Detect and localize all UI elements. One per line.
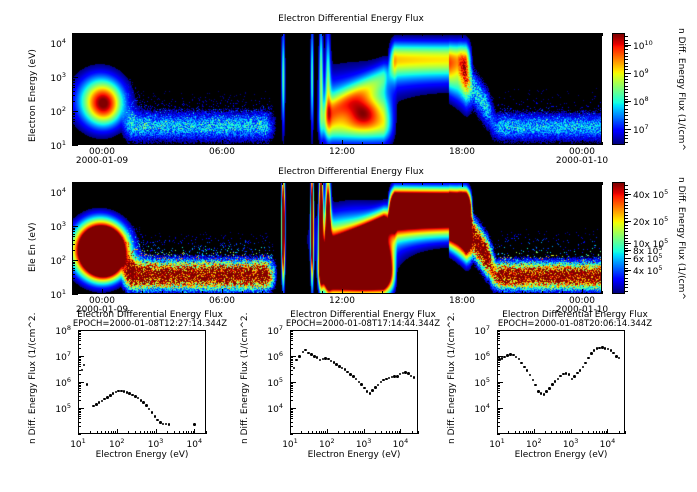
tick-mark [625,241,628,242]
tick-mark [360,431,361,434]
tick-mark [290,400,293,401]
tick-mark [78,362,81,363]
panel1-colorbar [612,33,625,145]
tick-mark [78,356,81,357]
data-point [568,373,571,376]
tick-mark [497,348,500,349]
panel1-colorbar-canvas [613,34,624,144]
spectrum-y-tick-label: 108 [55,324,71,337]
tick-mark [625,129,628,130]
panel1-ylabel: Electron Energy (eV) [28,49,38,142]
tick-mark [497,416,500,417]
tick-mark [290,330,293,331]
tick-mark [523,431,524,434]
tick-mark [375,431,376,434]
tick-mark [534,431,535,434]
tick-mark [625,89,628,90]
data-point [101,400,104,403]
tick-mark [497,411,500,412]
data-point [154,415,157,418]
tick-mark [497,364,500,365]
tick-mark [290,388,293,389]
tick-mark [78,370,81,371]
panel1-colorbar-label: n Diff. Energy Flux (1/(cm^ [676,28,686,151]
data-point [612,352,615,355]
tick-mark [625,274,628,275]
data-point [295,359,298,362]
tick-mark [78,412,81,413]
tick-mark [78,330,81,331]
tick-mark [625,101,631,102]
data-point [399,373,402,376]
data-point [529,374,532,377]
data-point [506,354,509,357]
tick-mark [308,431,309,434]
tick-mark [625,189,628,190]
tick-mark [625,194,631,195]
tick-mark [290,366,293,367]
tick-mark [602,431,603,434]
tick-mark [78,400,81,401]
data-point [193,423,196,426]
spectrum-2-ylabel: n Diff. Energy Flux (1/(cm^2. [240,313,250,444]
tick-mark [625,291,628,292]
panel1-colorbar-label-wrap: n Diff. Energy Flux (1/(cm^ [686,28,697,38]
tick-mark [290,338,293,339]
tick-mark [323,431,324,434]
panel-x-tick-label: 06:00 [208,296,236,306]
tick-mark [497,434,500,435]
panel-y-tick-label: 101 [50,288,66,301]
tick-mark [386,431,387,434]
data-point [571,378,574,381]
data-point [293,367,296,370]
tick-mark [607,431,608,434]
spectrum-y-tick-label: 104 [267,402,283,415]
tick-mark [78,359,81,360]
tick-mark [497,414,500,415]
tick-mark [625,46,628,47]
spectrum-1-ylabel-wrap: n Diff. Energy Flux (1/(cm^2. [28,444,159,454]
tick-mark [625,69,628,70]
data-point [579,369,582,372]
tick-mark [625,86,628,87]
data-point [573,375,576,378]
tick-mark [140,431,141,434]
tick-mark [188,431,189,434]
tick-mark [625,270,631,271]
tick-mark [78,333,81,334]
tick-mark [625,43,628,44]
tick-mark [625,208,628,209]
spectrum-x-tick-label: 104 [595,437,619,450]
tick-mark [625,248,628,249]
tick-mark [497,418,500,419]
tick-mark [497,366,500,367]
tick-mark [599,431,600,434]
data-point [168,423,171,426]
tick-mark [179,431,180,434]
panel-x-tick-label: 00:00 [568,147,596,157]
spectrum-x-tick-label: 104 [388,437,412,450]
tick-mark [78,331,81,332]
tick-mark [78,364,81,365]
tick-mark [364,431,365,434]
data-point [576,372,579,375]
tick-mark [625,119,628,120]
panel2-colorbar-label: n Diff. Energy Flux (1/(cm^ [676,177,686,300]
panel-x-tick-label: 18:00 [448,147,476,157]
tick-mark [353,431,354,434]
tick-mark [389,431,390,434]
tick-mark [78,336,81,337]
data-point [319,359,322,362]
tick-mark [497,388,500,389]
spectrum-y-tick-label: 107 [55,350,71,363]
spectrum-1-plot-area[interactable] [78,330,206,434]
tick-mark [78,386,81,387]
data-point [548,387,551,390]
tick-mark [625,92,628,93]
tick-mark [625,195,628,196]
tick-mark [78,396,81,397]
tick-mark [290,386,293,387]
panel-x-tick-label: 18:00 [448,296,476,306]
tick-mark [625,56,628,57]
panel1-plot-area[interactable] [72,33,602,145]
spectrum-y-tick-label: 107 [474,324,490,337]
tick-mark [78,338,81,339]
tick-mark [625,45,631,46]
tick-mark [562,431,563,434]
tick-mark [625,231,628,232]
tick-mark [497,334,500,335]
spectrum-y-tick-label: 105 [474,376,490,389]
data-point [360,383,363,386]
tick-mark [206,431,207,434]
tick-mark [625,228,628,229]
tick-mark [582,431,583,434]
tick-mark [625,287,628,288]
tick-mark [625,82,628,83]
tick-mark [602,291,603,294]
panel-y-tick-label: 104 [50,186,66,199]
panel-y-tick-label: 104 [50,37,66,50]
tick-mark [78,334,81,335]
panel-y-tick-label: 102 [50,105,66,118]
data-point [593,349,596,352]
tick-mark [290,340,293,341]
data-point [380,381,383,384]
tick-mark [290,344,293,345]
tick-mark [290,422,293,423]
tick-mark [625,243,631,244]
tick-mark [625,102,628,103]
tick-mark [78,340,81,341]
tick-mark [290,383,293,384]
data-point [145,404,148,407]
tick-mark [497,331,500,332]
data-point [545,390,548,393]
data-point [618,357,621,360]
spectrum-y-tick-label: 106 [474,350,490,363]
tick-mark [625,66,628,67]
data-point [298,355,301,358]
tick-mark [497,390,500,391]
tick-mark [625,96,628,97]
tick-mark [526,431,527,434]
tick-mark [625,278,628,279]
colorbar-tick-label: 1010 [633,39,653,52]
tick-mark [625,109,628,110]
tick-mark [625,76,628,77]
tick-mark [319,431,320,434]
tick-mark [290,414,293,415]
tick-mark [625,40,628,41]
tick-mark [497,382,500,383]
colorbar-tick-label: 10x 105 [633,237,668,250]
tick-mark [183,431,184,434]
tick-mark [596,431,597,434]
panel-x-tick-label: 12:00 [328,147,356,157]
tick-mark [497,396,500,397]
tick-mark [147,431,148,434]
tick-mark [105,431,106,434]
tick-mark [625,205,628,206]
tick-mark [290,362,293,363]
tick-mark [97,431,98,434]
tick-mark [355,431,356,434]
tick-mark [625,63,628,64]
tick-mark [78,390,81,391]
tick-mark [312,431,313,434]
tick-mark [625,122,628,123]
tick-mark [344,431,345,434]
spectrum-y-tick-label: 105 [267,376,283,389]
data-point [363,387,366,390]
tick-mark [528,431,529,434]
data-point [584,362,587,365]
tick-mark [497,409,500,410]
tick-mark [101,431,102,434]
panel2-colorbar [612,182,625,294]
tick-mark [625,185,628,186]
spectrum-y-tick-label: 105 [55,402,71,415]
tick-mark [290,392,293,393]
panel-x-tick-label: 06:00 [208,147,236,157]
data-point [377,384,380,387]
colorbar-tick-label: 8x 105 [633,244,663,257]
tick-mark [530,431,531,434]
tick-mark [497,426,500,427]
tick-mark [619,431,620,434]
colorbar-tick-label: 109 [633,67,649,80]
panel2-plot-area[interactable] [72,182,602,294]
data-point [369,392,372,395]
data-point [302,351,305,354]
tick-mark [349,431,350,434]
tick-mark [625,105,628,106]
tick-mark [571,431,572,434]
tick-mark [78,357,81,358]
tick-mark [358,431,359,434]
tick-mark [497,386,500,387]
panel-y-tick-label: 103 [50,220,66,233]
spectrum-3-plot-area[interactable] [497,330,625,434]
data-point [396,375,399,378]
panel2-colorbar-label-wrap: n Diff. Energy Flux (1/(cm^ [686,177,697,187]
tick-mark [78,414,81,415]
tick-mark [78,411,81,412]
tick-mark [556,431,557,434]
spectrum-3-ylabel: n Diff. Energy Flux (1/(cm^2. [447,313,457,444]
tick-mark [625,235,628,236]
panel-y-tick-label: 102 [50,254,66,267]
tick-mark [78,409,81,410]
tick-mark [78,366,81,367]
panel2-ylabel: Ele En (eV) [28,222,38,272]
tick-mark [497,338,500,339]
tick-mark [194,431,195,434]
tick-mark [625,73,631,74]
tick-mark [602,33,603,36]
tick-mark [72,294,78,295]
tick-mark [625,222,628,223]
tick-mark [290,360,293,361]
tick-mark [78,374,81,375]
tick-mark [156,431,157,434]
panel-x-date-right: 2000-01-10 [554,156,610,166]
data-point [83,364,86,367]
tick-mark [418,431,419,434]
tick-mark [497,359,500,360]
tick-mark [625,250,631,251]
tick-mark [515,431,516,434]
panel2-colorbar-canvas [613,183,624,293]
tick-mark [290,411,293,412]
tick-mark [625,112,628,113]
tick-mark [128,431,129,434]
tick-mark [144,431,145,434]
tick-mark [78,418,81,419]
tick-mark [78,426,81,427]
tick-mark [400,431,401,434]
tick-mark [497,370,500,371]
tick-mark [152,431,153,434]
tick-mark [78,385,81,386]
tick-mark [625,53,628,54]
tick-mark [604,431,605,434]
tick-mark [593,431,594,434]
tick-mark [602,142,603,145]
tick-mark [625,225,628,226]
data-point [551,383,554,386]
tick-mark [135,431,136,434]
data-point [518,358,521,361]
colorbar-tick-label: 6x 105 [633,252,663,265]
tick-mark [497,340,500,341]
tick-mark [625,198,628,199]
tick-mark [191,431,192,434]
tick-mark [108,431,109,434]
data-point [590,352,593,355]
tick-mark [90,431,91,434]
data-point [582,366,585,369]
tick-mark [78,434,81,435]
tick-mark [602,182,603,185]
tick-mark [519,431,520,434]
panel-y-tick-label: 103 [50,71,66,84]
tick-mark [497,336,500,337]
tick-mark [395,431,396,434]
tick-mark [290,348,293,349]
data-point [587,357,590,360]
tick-mark [625,212,628,213]
data-point [543,393,546,396]
tick-mark [625,254,628,255]
tick-mark [497,357,500,358]
data-point [413,376,416,379]
tick-mark [117,431,118,434]
tick-mark [290,336,293,337]
tick-mark [625,268,628,269]
tick-mark [625,59,628,60]
tick-mark [625,221,631,222]
spectrum-2-ylabel-wrap: n Diff. Energy Flux (1/(cm^2. [240,444,371,454]
data-point [366,390,369,393]
tick-mark [290,364,293,365]
spectrum-2-plot-area[interactable] [290,330,418,434]
tick-mark [497,360,500,361]
tick-mark [625,281,628,282]
data-point [355,378,358,381]
tick-mark [625,218,628,219]
spectrum-y-tick-label: 107 [267,324,283,337]
tick-mark [497,392,500,393]
data-point [109,394,112,397]
tick-mark [497,344,500,345]
panel1-spectrogram-canvas[interactable] [73,34,601,144]
tick-mark [290,333,293,334]
tick-mark [508,431,509,434]
tick-mark [290,434,293,435]
data-point [526,369,529,372]
tick-mark [290,390,293,391]
tick-mark [338,431,339,434]
tick-mark [588,431,589,434]
data-point [137,397,140,400]
data-point [515,356,518,359]
spectrum-y-tick-label: 106 [267,350,283,363]
tick-mark [113,431,114,434]
tick-mark [625,261,628,262]
tick-mark [497,330,500,331]
tick-mark [625,132,628,133]
data-point [554,380,557,383]
spectrum-3-ylabel-wrap: n Diff. Energy Flux (1/(cm^2. [447,444,578,454]
data-point [148,408,151,411]
tick-mark [78,422,81,423]
tick-mark [625,49,628,50]
data-point [151,411,154,414]
tick-mark [625,99,628,100]
tick-mark [625,115,628,116]
tick-mark [381,431,382,434]
data-point [534,384,537,387]
panel2-spectrogram-canvas[interactable] [73,183,601,293]
data-point [316,356,319,359]
tick-mark [78,383,81,384]
